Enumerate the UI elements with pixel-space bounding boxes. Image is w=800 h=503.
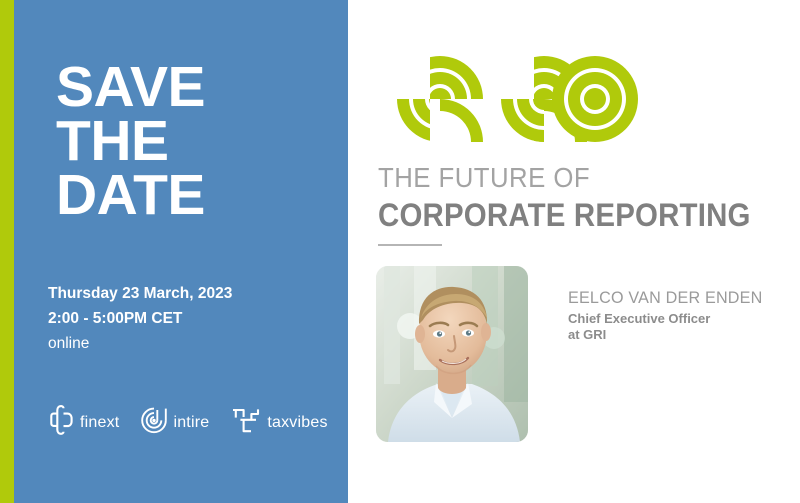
sponsor-logo-row: finext intire	[50, 405, 328, 440]
sponsor-intire[interactable]: intire	[141, 407, 209, 439]
event-mode: online	[48, 331, 232, 356]
taxvibes-wordmark: taxvibes	[267, 414, 327, 432]
heading-line-2: THE	[56, 114, 205, 168]
heading-line-1: SAVE	[56, 60, 205, 114]
save-the-date-poster: SAVE THE DATE Thursday 23 March, 2023 2:…	[0, 0, 800, 503]
title-divider	[378, 244, 442, 246]
sponsor-finext[interactable]: finext	[50, 405, 119, 440]
accent-stripe	[0, 0, 14, 503]
intire-logo-icon	[141, 407, 167, 439]
taxvibes-logo-icon	[231, 407, 261, 439]
event-date: Thursday 23 March, 2023	[48, 281, 232, 306]
intire-wordmark: intire	[173, 414, 209, 432]
headline-line-2: CORPORATE REPORTING	[378, 196, 751, 234]
speaker-role: Chief Executive Officer	[568, 311, 773, 327]
event-time: 2:00 - 5:00PM CET	[48, 306, 232, 331]
concentric-rings-logo-icon	[378, 56, 638, 147]
finext-logo-icon	[50, 405, 74, 440]
save-the-date-heading: SAVE THE DATE	[56, 60, 205, 222]
speaker-details: EELCO VAN DER ENDEN Chief Executive Offi…	[568, 288, 773, 343]
speaker-org: at GRI	[568, 327, 773, 343]
event-details: Thursday 23 March, 2023 2:00 - 5:00PM CE…	[48, 281, 232, 356]
sponsor-taxvibes[interactable]: taxvibes	[231, 407, 327, 439]
finext-wordmark: finext	[80, 414, 119, 432]
speaker-name: EELCO VAN DER ENDEN	[568, 288, 762, 308]
heading-line-3: DATE	[56, 168, 205, 222]
headline-line-1: THE FUTURE OF	[378, 163, 751, 193]
page-title: THE FUTURE OF CORPORATE REPORTING	[378, 163, 783, 234]
right-white-panel: THE FUTURE OF CORPORATE REPORTING	[348, 0, 800, 503]
speaker-avatar	[376, 266, 528, 442]
